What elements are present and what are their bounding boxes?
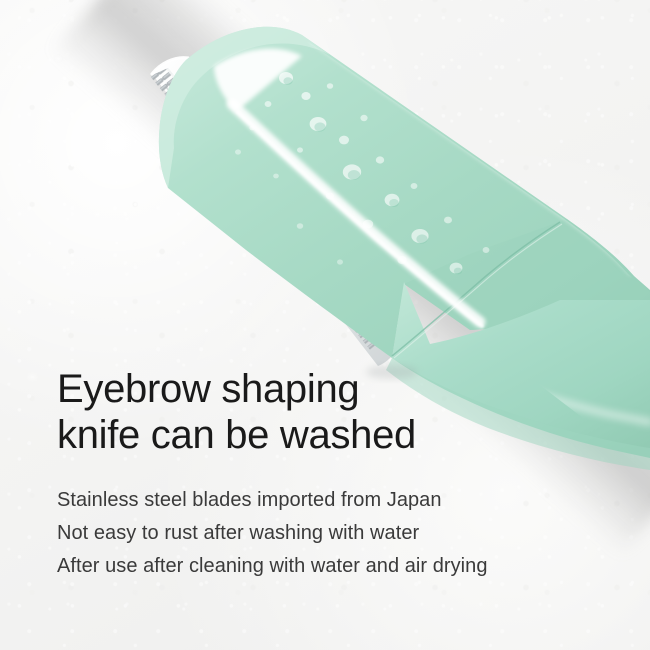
feature-item-2: Not easy to rust after washing with wate… (57, 517, 617, 550)
marketing-copy: Eyebrow shaping knife can be washed Stai… (57, 366, 617, 583)
feature-item-1: Stainless steel blades imported from Jap… (57, 484, 617, 517)
headline: Eyebrow shaping knife can be washed (57, 366, 617, 458)
product-photo-scene: Eyebrow shaping knife can be washed Stai… (0, 0, 650, 650)
feature-list: Stainless steel blades imported from Jap… (57, 484, 617, 583)
feature-item-3: After use after cleaning with water and … (57, 550, 617, 583)
